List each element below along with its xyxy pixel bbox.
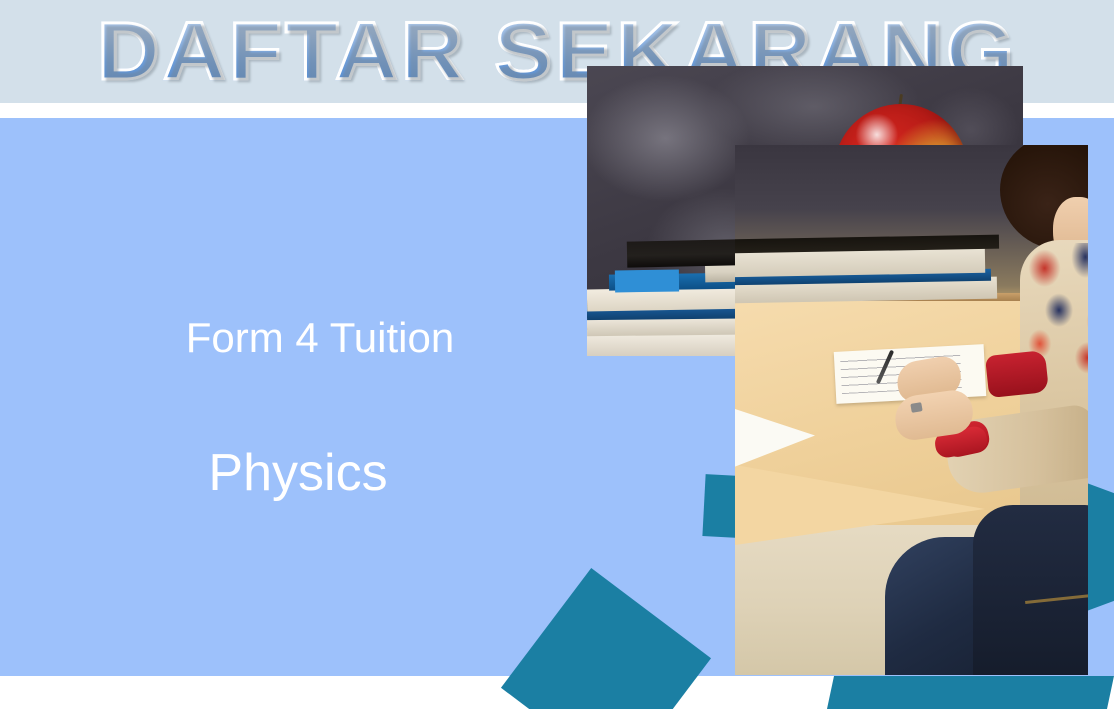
teal-chevron-shape — [1084, 482, 1114, 612]
finger-ring — [910, 402, 922, 413]
student-writing-photo — [735, 145, 1088, 675]
student-jeans-upper — [973, 505, 1088, 675]
teal-diamond-shape — [501, 568, 711, 709]
course-subtitle: Form 4 Tuition — [0, 314, 640, 362]
teal-bottom-bar-shape — [827, 676, 1114, 709]
book-blue-spine — [615, 270, 679, 293]
course-subject: Physics — [0, 444, 596, 504]
slide-canvas: DAFTAR SEKARANG Form 4 Tuition Physics — [0, 0, 1114, 709]
red-sleeve-far — [985, 350, 1049, 398]
